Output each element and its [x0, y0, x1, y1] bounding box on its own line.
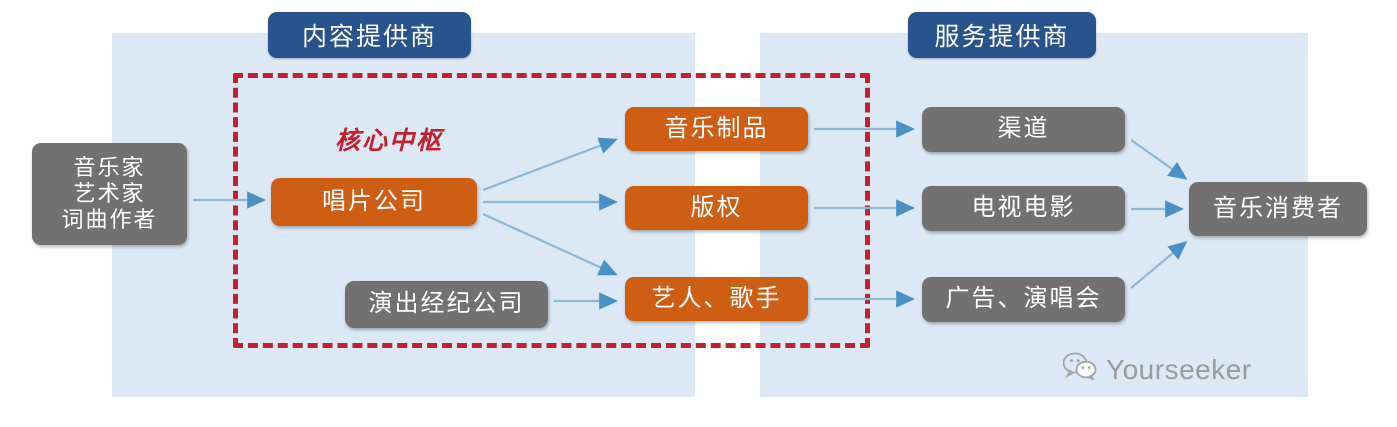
node-channel[interactable]: 渠道: [922, 107, 1125, 152]
node-music-products[interactable]: 音乐制品: [625, 107, 808, 151]
node-music-consumers[interactable]: 音乐消费者: [1189, 182, 1367, 236]
watermark-text: Yourseeker: [1106, 354, 1252, 386]
watermark: Yourseeker: [1063, 352, 1252, 387]
diagram-canvas: 内容提供商 服务提供商 核心中枢 音乐家 艺术家 词曲作者 唱片公司 演出经纪公…: [0, 0, 1397, 427]
badge-service-provider-label: 服务提供商: [934, 17, 1069, 53]
badge-content-provider-label: 内容提供商: [302, 17, 437, 53]
badge-content-provider: 内容提供商: [268, 12, 471, 58]
node-label-company[interactable]: 唱片公司: [271, 178, 477, 226]
node-performance-agency[interactable]: 演出经纪公司: [345, 281, 548, 328]
node-artists-singers[interactable]: 艺人、歌手: [625, 277, 808, 321]
node-creators-line3: 词曲作者: [61, 207, 157, 233]
node-creators-line1: 音乐家: [73, 155, 145, 181]
core-hub-annotation: 核心中枢: [335, 121, 443, 157]
node-tv-film[interactable]: 电视电影: [922, 186, 1125, 231]
node-creators[interactable]: 音乐家 艺术家 词曲作者: [32, 143, 187, 245]
wechat-icon: [1063, 352, 1097, 387]
node-copyright[interactable]: 版权: [625, 186, 808, 230]
node-creators-line2: 艺术家: [73, 181, 145, 207]
node-ads-concerts[interactable]: 广告、演唱会: [922, 277, 1125, 322]
badge-service-provider: 服务提供商: [908, 12, 1096, 58]
